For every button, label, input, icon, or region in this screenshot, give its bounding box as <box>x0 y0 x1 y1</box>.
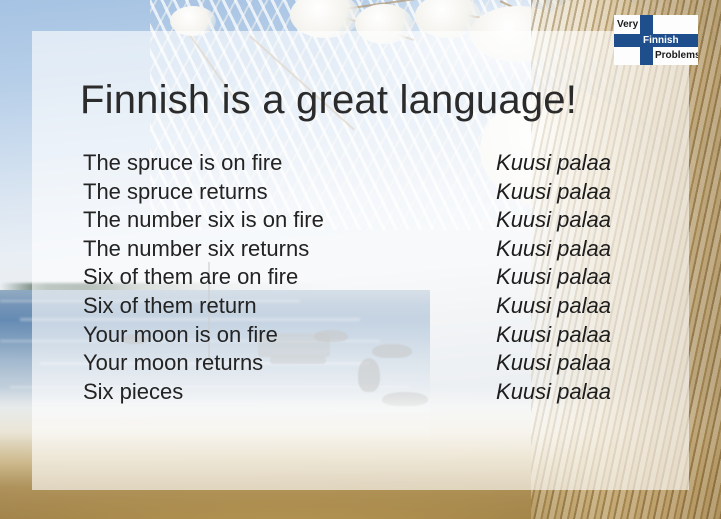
list-item: The number six is on fire Kuusi palaa <box>83 207 628 236</box>
finnish-phrase: Kuusi palaa <box>453 322 628 348</box>
finnish-phrase: Kuusi palaa <box>453 379 628 405</box>
list-item: The spruce returns Kuusi palaa <box>83 179 628 208</box>
english-phrase: Six of them are on fire <box>83 264 453 290</box>
list-item: The spruce is on fire Kuusi palaa <box>83 150 628 179</box>
finnish-phrase: Kuusi palaa <box>453 179 628 205</box>
english-phrase: Your moon returns <box>83 350 453 376</box>
list-item: Six pieces Kuusi palaa <box>83 379 628 408</box>
english-phrase: Six pieces <box>83 379 453 405</box>
list-item: Six of them return Kuusi palaa <box>83 293 628 322</box>
logo-word-very: Very <box>617 19 638 31</box>
english-phrase: The number six is on fire <box>83 207 453 233</box>
page-title: Finnish is a great language! <box>80 78 577 123</box>
logo-word-finnish: Finnish <box>643 35 679 47</box>
english-phrase: Six of them return <box>83 293 453 319</box>
finnish-phrase: Kuusi palaa <box>453 150 628 176</box>
english-phrase: The spruce returns <box>83 179 453 205</box>
finnish-phrase: Kuusi palaa <box>453 207 628 233</box>
list-item: Six of them are on fire Kuusi palaa <box>83 264 628 293</box>
finnish-phrase: Kuusi palaa <box>453 236 628 262</box>
list-item: The number six returns Kuusi palaa <box>83 236 628 265</box>
english-phrase: The spruce is on fire <box>83 150 453 176</box>
meme-image: Finnish is a great language! The spruce … <box>0 0 721 519</box>
very-finnish-problems-logo: Very Finnish Problems <box>614 15 698 65</box>
translation-list: The spruce is on fire Kuusi palaa The sp… <box>83 150 628 407</box>
english-phrase: Your moon is on fire <box>83 322 453 348</box>
list-item: Your moon returns Kuusi palaa <box>83 350 628 379</box>
finnish-phrase: Kuusi palaa <box>453 350 628 376</box>
logo-word-problems: Problems <box>655 50 698 62</box>
english-phrase: The number six returns <box>83 236 453 262</box>
list-item: Your moon is on fire Kuusi palaa <box>83 322 628 351</box>
finnish-phrase: Kuusi palaa <box>453 293 628 319</box>
finnish-phrase: Kuusi palaa <box>453 264 628 290</box>
